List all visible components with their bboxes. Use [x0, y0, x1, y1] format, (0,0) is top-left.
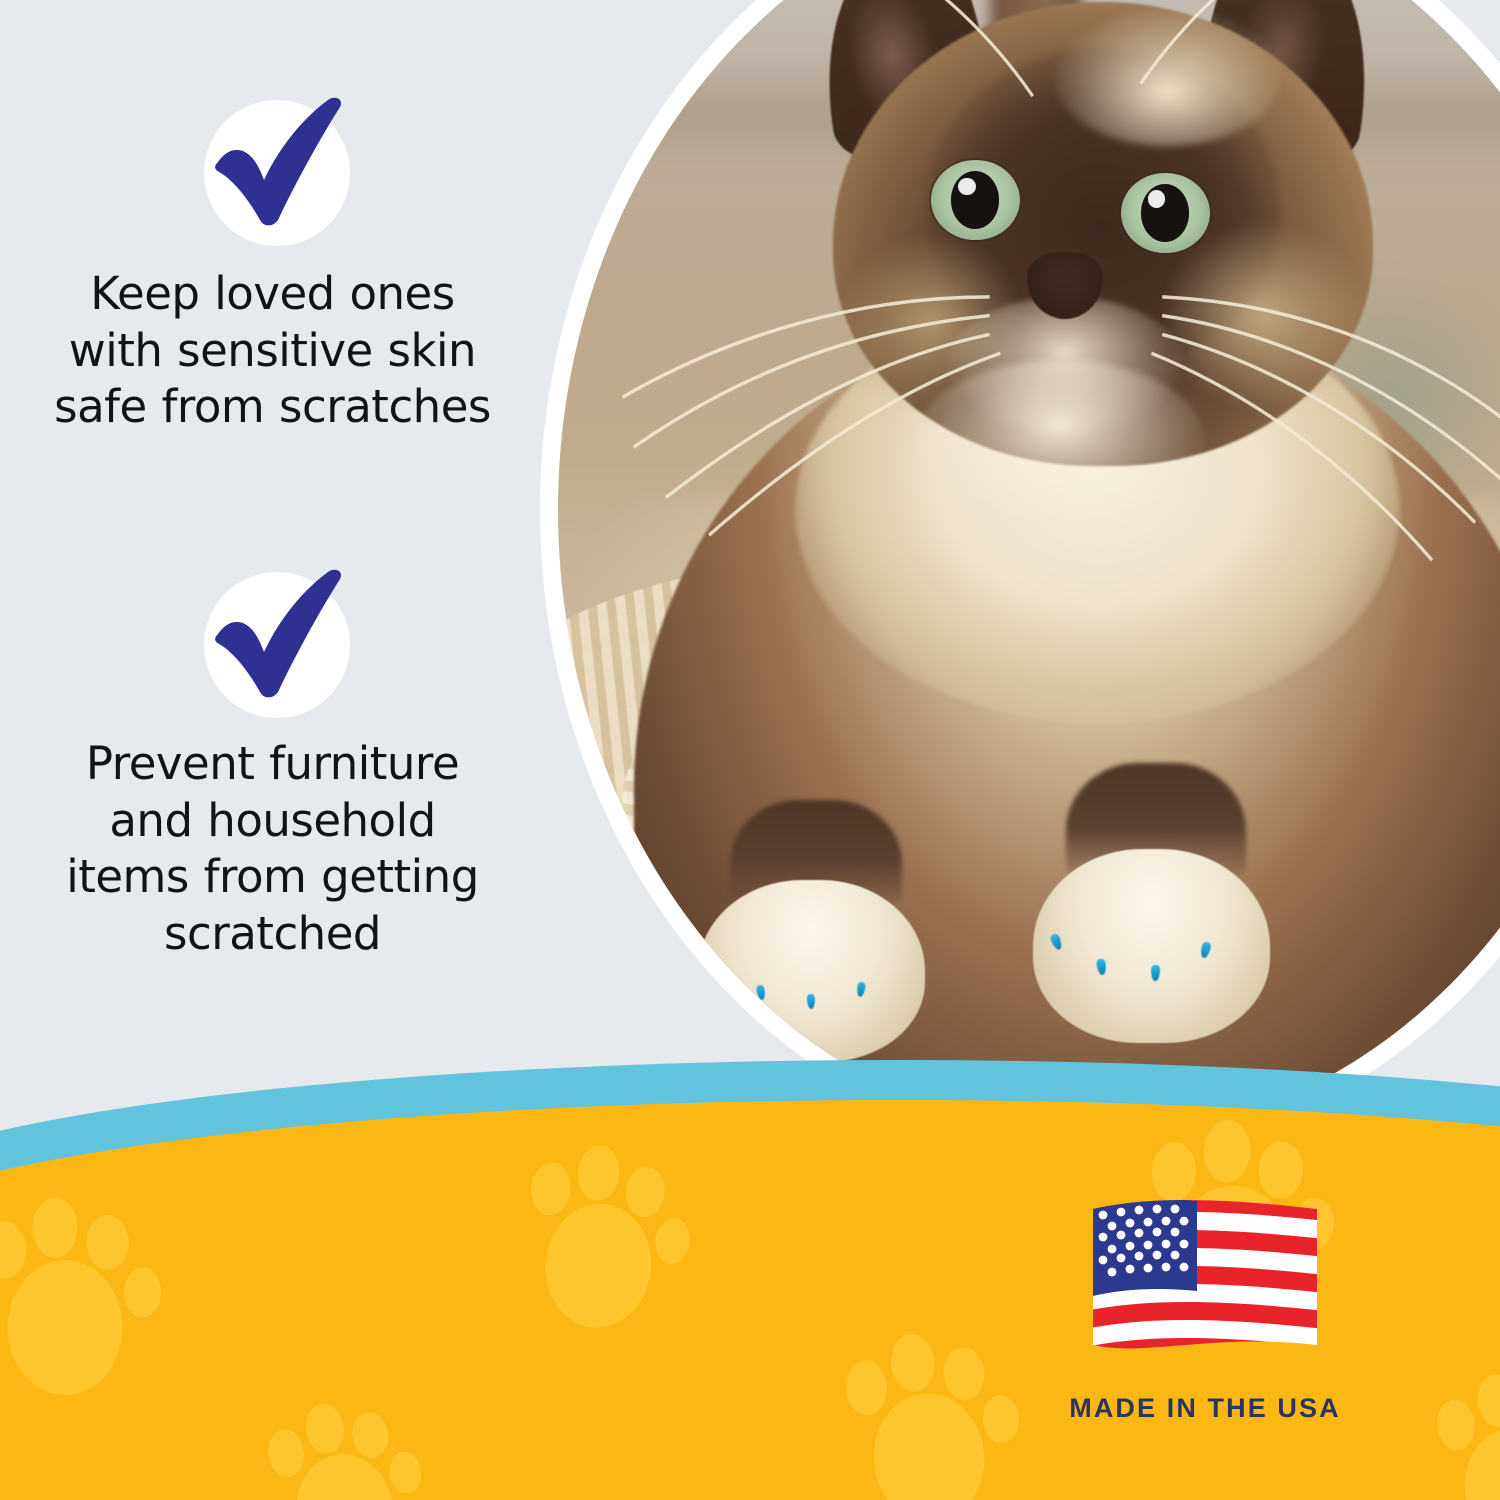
cat-paw-pad-left [698, 880, 925, 1062]
usa-flag-icon [1085, 1195, 1325, 1367]
made-in-usa-label: MADE IN THE USA [1069, 1393, 1341, 1424]
product-infographic: Keep loved ones with sensitive skin safe… [0, 0, 1500, 1500]
blue-checkmark-icon [198, 80, 348, 240]
benefit-text: Keep loved ones with sensitive skin safe… [53, 266, 493, 436]
cat-paw-right [1033, 849, 1270, 1043]
blue-checkmark-icon [198, 552, 348, 712]
cat-paw-pad-right [1033, 849, 1270, 1043]
made-in-usa-badge: MADE IN THE USA [1040, 1195, 1370, 1424]
check-badge [198, 92, 348, 242]
benefit-text: Prevent furniture and household items fr… [53, 736, 493, 963]
cat-paw-left [698, 880, 925, 1062]
benefits-list: Keep loved ones with sensitive skin safe… [0, 0, 545, 1200]
check-badge [198, 564, 348, 714]
benefit-item: Keep loved ones with sensitive skin safe… [0, 92, 545, 436]
benefit-item: Prevent furniture and household items fr… [0, 564, 545, 963]
cat-product-photo [558, 0, 1500, 1137]
cat [558, 0, 1500, 1137]
